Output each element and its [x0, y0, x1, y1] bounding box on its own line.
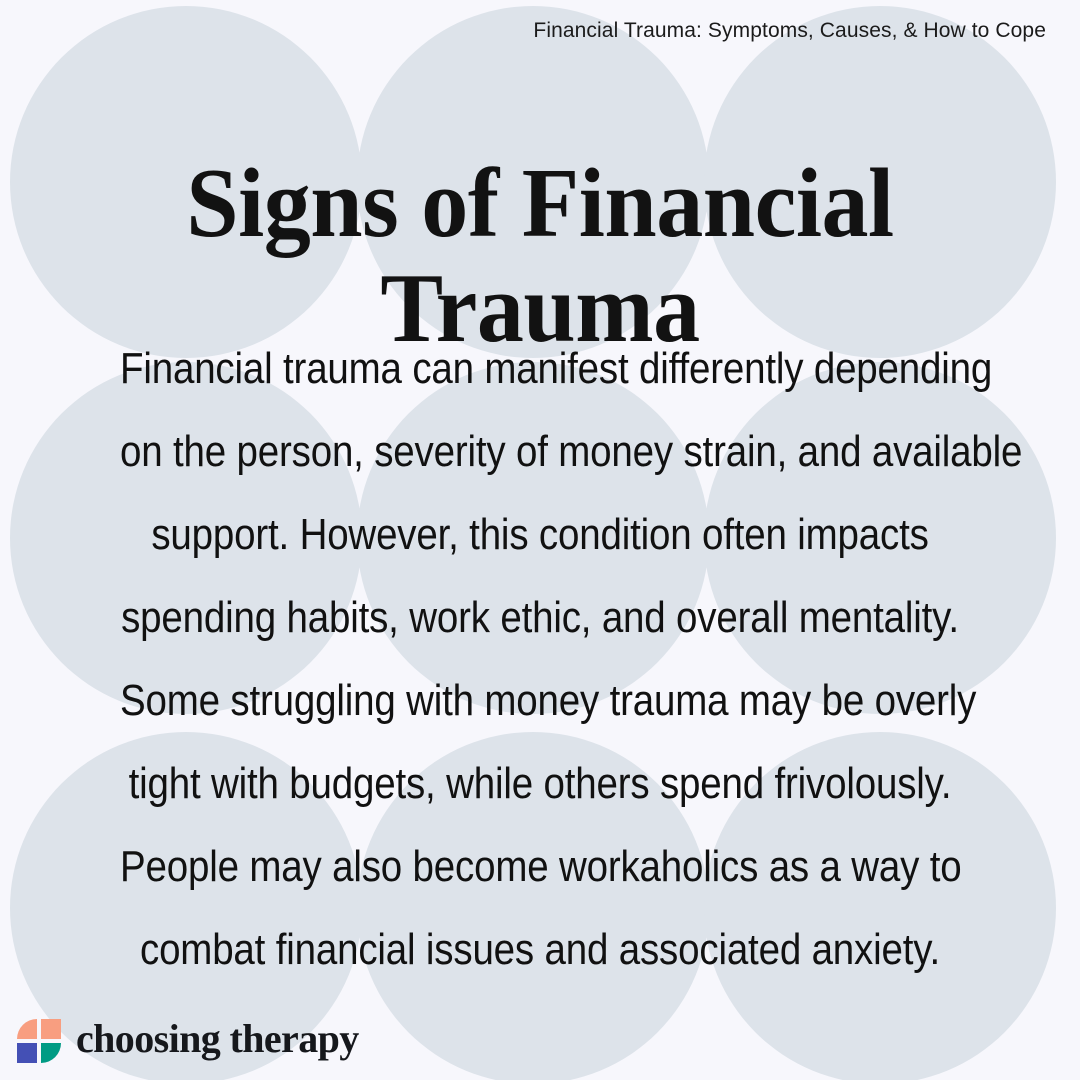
body-text-line: combat financial issues and associated a…: [120, 908, 960, 991]
body-text-line: People may also become workaholics as a …: [120, 825, 960, 908]
body-text-line: tight with budgets, while others spend f…: [120, 742, 960, 825]
body-text-line: spending habits, work ethic, and overall…: [120, 576, 960, 659]
infographic-card: Financial Trauma: Symptoms, Causes, & Ho…: [0, 0, 1080, 1080]
body-text-line: on the person, severity of money strain,…: [120, 410, 960, 493]
brand-logo-lockup[interactable]: choosing therapy: [16, 1018, 359, 1064]
body-text-line: Some struggling with money trauma may be…: [120, 659, 960, 742]
body-paragraph: Financial trauma can manifest differentl…: [60, 327, 1020, 991]
header-bar: Financial Trauma: Symptoms, Causes, & Ho…: [0, 18, 1046, 43]
body-text-line: support. However, this condition often i…: [120, 493, 960, 576]
logo-mark-svg: [16, 1018, 62, 1064]
choosing-therapy-quadrant-logo-icon: [16, 1018, 62, 1064]
brand-name-text: choosing therapy: [76, 1019, 359, 1063]
body-text-line: Financial trauma can manifest differentl…: [120, 327, 960, 410]
article-title-eyebrow: Financial Trauma: Symptoms, Causes, & Ho…: [533, 18, 1046, 43]
